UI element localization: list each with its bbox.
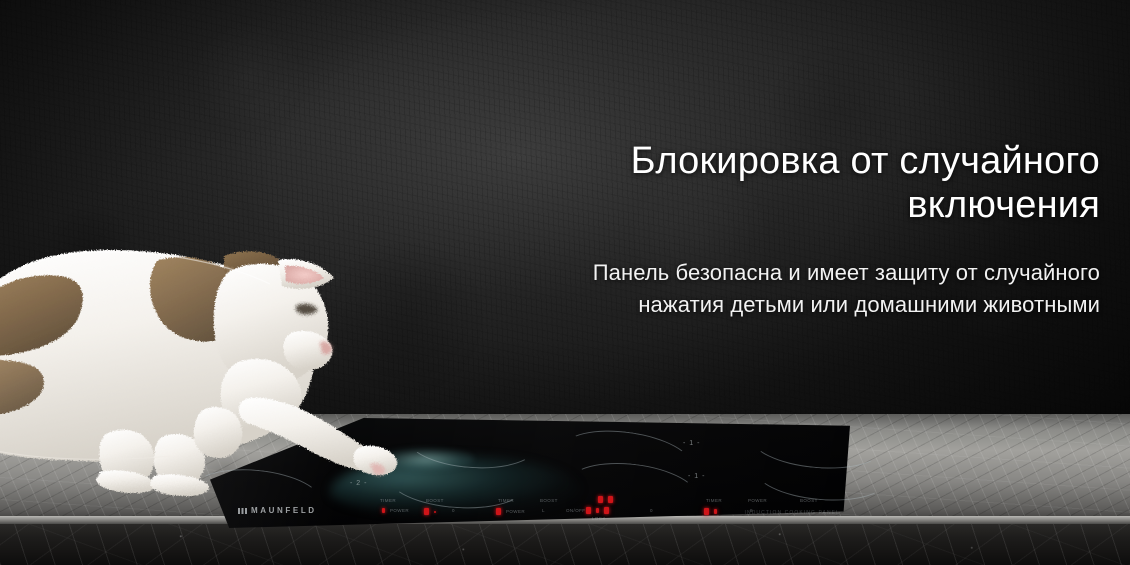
control-aux-left[interactable]: 0 [452, 508, 455, 513]
control-label-boost-left: BOOST [426, 498, 444, 503]
led-lock-d [596, 508, 599, 513]
control-display-mid-left[interactable]: L [542, 508, 545, 513]
counter-front-speckle [0, 524, 1130, 565]
zone-label-front-right: - 1 - [688, 473, 705, 480]
led-lock-e [604, 507, 609, 514]
led-lock-b [608, 496, 613, 503]
maunfeld-logo-mark-icon [238, 508, 247, 514]
subtitle-line-1: Панель безопасна и имеет защиту от случа… [430, 257, 1100, 288]
zone-label-rear-right: - 1 - [683, 440, 700, 447]
control-value-power-right: 8 [750, 508, 753, 513]
copy-block: Блокировка от случайного включения Панел… [430, 140, 1100, 320]
control-boost-left[interactable]: BOOST [426, 498, 444, 503]
control-lock-label[interactable]: LOCK [592, 516, 606, 521]
control-lock-center[interactable] [598, 496, 613, 503]
led-display-left [424, 508, 429, 515]
control-label-aux-left: 0 [452, 508, 455, 513]
control-value-onoff: 0 [650, 508, 653, 513]
cat-body-group [0, 250, 397, 496]
control-label-power-mid-left: POWER [506, 509, 525, 514]
marketing-banner-scene: - 2 - - 1 - - 1 - MAUNFELD INDUCTION COO… [0, 0, 1130, 565]
control-label-timer-mid-left: TIMER [498, 498, 514, 503]
counter-front-face [0, 524, 1130, 565]
subtitle-line-2: нажатия детьми или домашними животными [430, 289, 1100, 320]
control-timer-right[interactable]: TIMER [706, 498, 722, 503]
control-power-left[interactable]: POWER [382, 508, 409, 513]
control-boost-mid-left[interactable]: BOOST [540, 498, 558, 503]
led-timer-right [704, 508, 709, 515]
brand-name: MAUNFELD [251, 506, 317, 515]
control-label-power-left: POWER [390, 508, 409, 513]
led-lock-a [598, 496, 603, 503]
control-display-left[interactable] [424, 508, 436, 515]
page-title: Блокировка от случайного включения [430, 140, 1100, 227]
control-label-power-right: POWER [748, 498, 767, 503]
control-lock-center-row[interactable] [586, 507, 609, 514]
control-power-right[interactable]: POWER [748, 498, 767, 503]
cat-illustration [0, 236, 402, 504]
control-label-boost-mid-left: BOOST [540, 498, 558, 503]
control-onoff-value[interactable]: 0 [650, 508, 653, 513]
led-timer-right-b [714, 509, 717, 514]
led-power-left [382, 508, 385, 513]
control-boost-right[interactable]: BOOST [800, 498, 818, 503]
control-timer-right-display[interactable] [704, 508, 717, 515]
cat-mid-paw [150, 474, 209, 496]
control-label-boost-right: BOOST [800, 498, 818, 503]
control-power-right-display[interactable]: 8 [750, 508, 753, 513]
control-power-mid-left[interactable]: POWER [496, 508, 525, 515]
control-label-lock: LOCK [592, 516, 606, 521]
brand-logo: MAUNFELD [238, 506, 317, 515]
led-dot-left [434, 511, 436, 513]
control-label-timer-right: TIMER [706, 498, 722, 503]
control-timer-mid-left[interactable]: TIMER [498, 498, 514, 503]
control-value-mid-left: L [542, 508, 545, 513]
control-onoff-center[interactable]: ON/OFF [566, 508, 585, 513]
control-panel[interactable]: TIMER POWER BOOST 0 TIMER POWER [380, 494, 820, 520]
control-label-onoff: ON/OFF [566, 508, 585, 513]
page-subtitle: Панель безопасна и имеет защиту от случа… [430, 257, 1100, 319]
led-lock-c [586, 507, 591, 514]
cat-subject [0, 236, 402, 504]
led-power-mid-left [496, 508, 501, 515]
